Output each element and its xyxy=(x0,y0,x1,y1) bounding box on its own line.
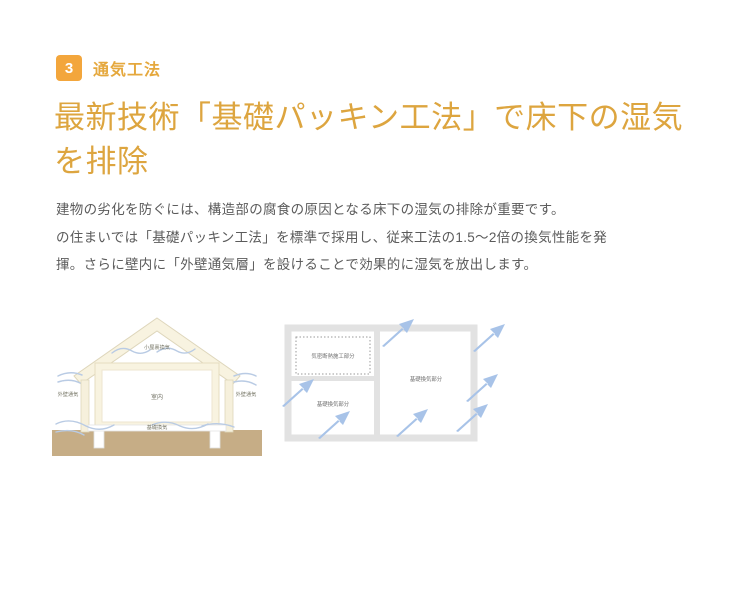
label-vent-section-left: 基礎換気部分 xyxy=(317,400,350,408)
plan-partition-horizontal xyxy=(291,376,377,381)
section-label: 通気工法 xyxy=(93,56,161,80)
label-vent-section-right: 基礎換気部分 xyxy=(410,375,443,383)
foundation-ventilation-plan-diagram: 気密断熱施工部分 基礎換気部分 基礎換気部分 xyxy=(270,306,520,456)
page-root: 3 通気工法 最新技術「基礎パッキン工法」で床下の湿気を排除 建物の劣化を防ぐに… xyxy=(0,0,738,596)
body-line-2: の住まいでは「基礎パッキン工法」を標準で採用し、従来工法の1.5〜2倍の換気性能… xyxy=(56,224,676,252)
foundation-pier-left xyxy=(94,430,104,448)
body-line-3: 揮。さらに壁内に「外壁通気層」を設けることで効果的に湿気を放出します。 xyxy=(56,251,676,279)
section-number-badge: 3 xyxy=(56,55,82,81)
ground-band xyxy=(52,430,262,456)
plan-partition-vertical xyxy=(374,331,380,435)
label-wall-vent-left: 外壁通気 xyxy=(58,390,79,398)
page-title: 最新技術「基礎パッキン工法」で床下の湿気を排除 xyxy=(54,96,704,184)
diagram-row: 小屋裏換気 外壁通気 外壁通気 室内 基礎換気 xyxy=(52,306,522,456)
body-paragraph: 建物の劣化を防ぐには、構造部の腐食の原因となる床下の湿気の排除が重要です。 の住… xyxy=(56,196,676,279)
label-attic-vent: 小屋裏換気 xyxy=(144,343,170,351)
house-section-svg: 小屋裏換気 外壁通気 外壁通気 室内 基礎換気 xyxy=(52,306,262,456)
house-cross-section-diagram: 小屋裏換気 外壁通気 外壁通気 室内 基礎換気 xyxy=(52,306,262,456)
arrow-top xyxy=(382,319,414,347)
label-airtight-section: 気密断熱施工部分 xyxy=(311,352,355,360)
floor-plan-svg: 気密断熱施工部分 基礎換気部分 基礎換気部分 xyxy=(270,306,520,456)
label-foundation-vent: 基礎換気 xyxy=(147,423,168,431)
section-eyebrow: 3 通気工法 xyxy=(56,55,161,81)
arrow-bottom-center xyxy=(396,409,428,437)
label-wall-vent-right: 外壁通気 xyxy=(236,390,257,398)
body-line-1: 建物の劣化を防ぐには、構造部の腐食の原因となる床下の湿気の排除が重要です。 xyxy=(56,196,676,224)
arrow-upper-right xyxy=(473,324,505,352)
foundation-pier-right xyxy=(210,430,220,448)
label-interior: 室内 xyxy=(151,393,163,401)
